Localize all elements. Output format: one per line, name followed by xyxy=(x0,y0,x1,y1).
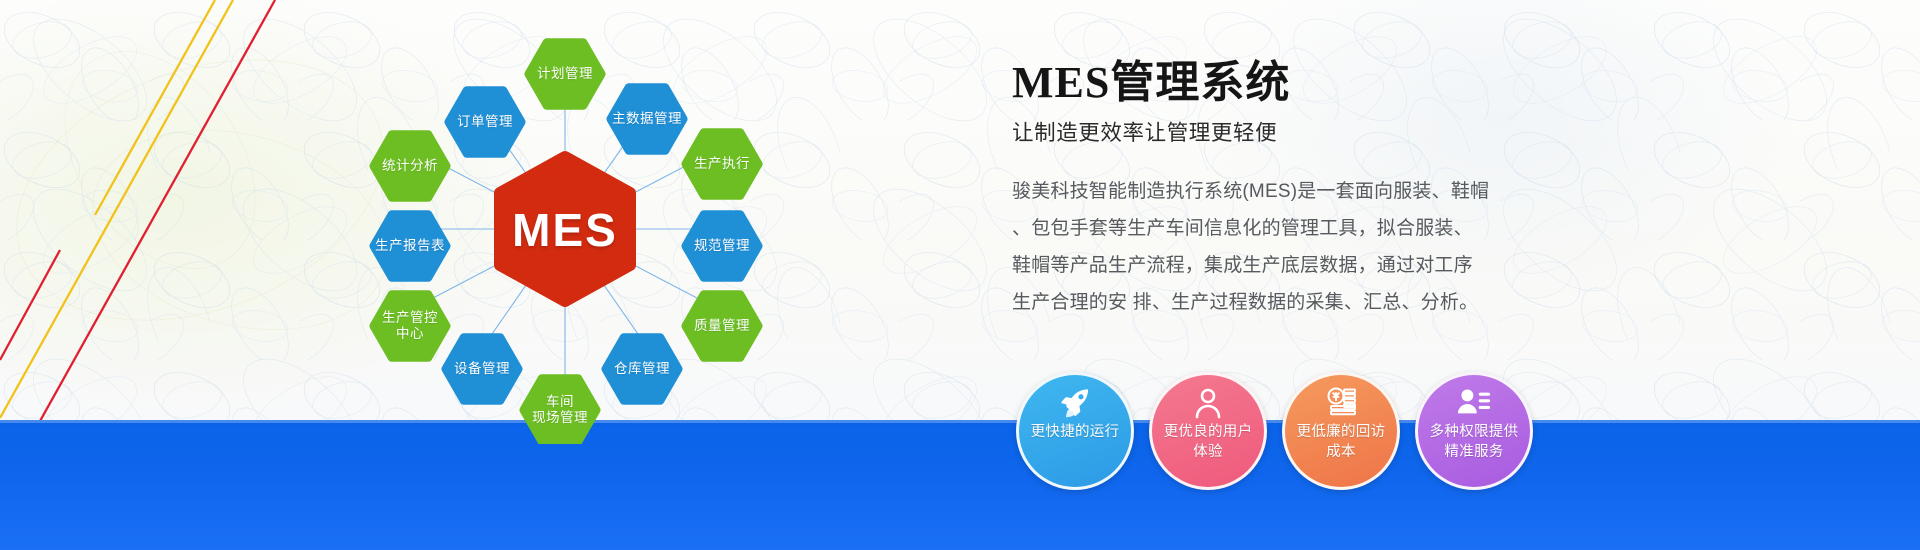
hex-node-8[interactable] xyxy=(374,295,446,357)
paragraph-line: 生产合理的安 排、生产过程数据的采集、汇总、分析。 xyxy=(1012,284,1592,321)
coins-icon xyxy=(1325,386,1357,420)
hex-node-10[interactable] xyxy=(374,135,446,197)
page-subtitle: 让制造更效率让管理更轻便 xyxy=(1012,116,1892,147)
hex-node-6[interactable] xyxy=(524,379,596,441)
description-paragraph: 骏美科技智能制造执行系统(MES)是一套面向服装、鞋帽 、包包手套等生产车间信息… xyxy=(1012,173,1592,321)
mes-banner: MES 计划管理主数据管理生产执行规范管理质量管理仓库管理车间现场管理设备管理生… xyxy=(0,0,1920,550)
mes-hexagon-diagram: MES 计划管理主数据管理生产执行规范管理质量管理仓库管理车间现场管理设备管理生… xyxy=(330,14,800,444)
paragraph-line: 骏美科技智能制造执行系统(MES)是一套面向服装、鞋帽 xyxy=(1012,173,1592,210)
feature-text: 多种权限提供精准服务 xyxy=(1420,423,1529,462)
user-list-icon xyxy=(1457,386,1491,420)
hex-node-9[interactable] xyxy=(374,215,446,277)
feature-circle-faster-operation[interactable]: 更快捷的运行 xyxy=(1016,372,1134,490)
feature-circle-permissions[interactable]: 多种权限提供精准服务 xyxy=(1415,372,1533,490)
feature-circle-lower-cost[interactable]: 更低廉的回访成本 xyxy=(1282,372,1400,490)
person-icon xyxy=(1192,386,1224,420)
hex-center xyxy=(500,157,630,301)
feature-circle-group: 更快捷的运行 更优良的用户体验 xyxy=(1016,372,1546,492)
paragraph-line: 、包包手套等生产车间信息化的管理工具，拟合服装、 xyxy=(1012,210,1592,247)
paragraph-line: 鞋帽等产品生产流程，集成生产底层数据，通过对工序 xyxy=(1012,247,1592,284)
hex-node-4[interactable] xyxy=(686,295,758,357)
hex-node-7[interactable] xyxy=(446,338,518,400)
hex-node-5[interactable] xyxy=(606,338,678,400)
feature-text: 更优良的用户体验 xyxy=(1154,423,1263,462)
hex-node-3[interactable] xyxy=(686,215,758,277)
feature-text: 更低廉的回访成本 xyxy=(1287,423,1396,462)
feature-circle-better-experience[interactable]: 更优良的用户体验 xyxy=(1149,372,1267,490)
feature-text: 更快捷的运行 xyxy=(1021,423,1130,443)
page-title: MES管理系统 xyxy=(1012,60,1892,106)
hex-node-11[interactable] xyxy=(449,91,521,153)
hex-node-2[interactable] xyxy=(686,133,758,195)
hex-node-0[interactable] xyxy=(529,43,601,105)
hex-node-1[interactable] xyxy=(611,88,683,150)
rocket-icon xyxy=(1058,386,1092,420)
